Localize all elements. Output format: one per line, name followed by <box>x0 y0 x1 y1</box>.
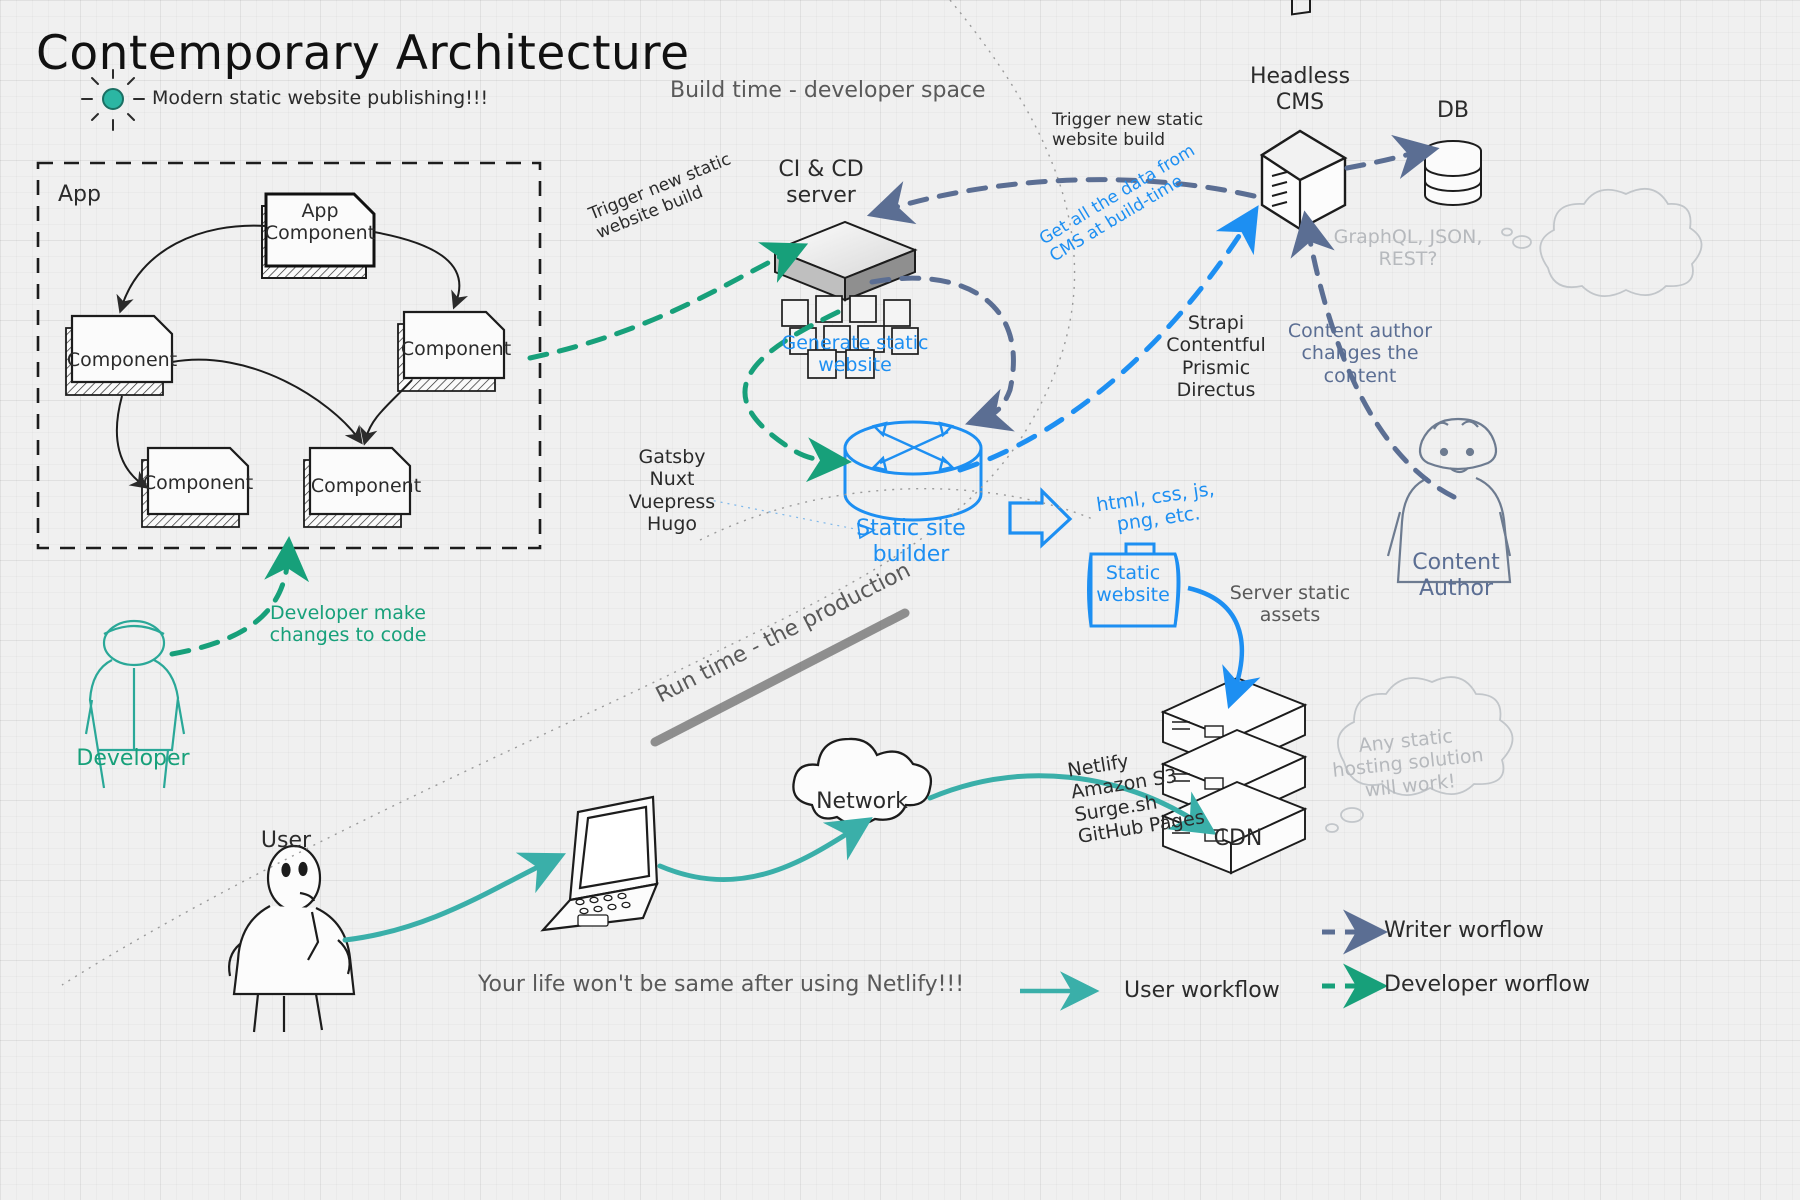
component-label-bottom-right: Component <box>311 475 421 497</box>
user-character-icon <box>229 846 354 1032</box>
user-label: User <box>261 828 311 854</box>
laptop-icon <box>543 797 657 930</box>
footer-note: Your life won't be same after using Netl… <box>478 972 964 998</box>
component-label-bottom-left: Component <box>143 472 253 494</box>
edge-label-generate-static-website: Generate static website <box>782 332 929 377</box>
static-site-builder-label: Static site builder <box>856 516 966 568</box>
legend-label-developer: Developer worflow <box>1384 972 1590 998</box>
build-output-arrow-icon <box>1010 491 1070 545</box>
page-subtitle: Modern static website publishing!!! <box>152 87 488 109</box>
static-generator-list: Gatsby Nuxt Vuepress Hugo <box>629 446 715 536</box>
generator-list-connector <box>700 498 860 530</box>
legend-label-writer: Writer worflow <box>1384 918 1544 944</box>
edge-label-server-static-assets: Server static assets <box>1230 582 1351 627</box>
section-label-build-time: Build time - developer space <box>670 78 986 104</box>
diagram-canvas: Contemporary Architecture Modern static … <box>0 0 1800 1200</box>
edge-label-content-author-changes: Content author changes the content <box>1288 320 1432 387</box>
headless-cms-label: Headless CMS <box>1250 64 1350 116</box>
api-formats-thought-bubble <box>1502 189 1702 296</box>
app-component-label: App Component <box>265 200 375 245</box>
component-label-right: Component <box>401 338 511 360</box>
api-formats-bubble-text: GraphQL, JSON, REST? <box>1334 226 1483 271</box>
developer-label: Developer <box>76 746 189 772</box>
network-label: Network <box>816 789 908 815</box>
static-website-label: Static website <box>1096 562 1170 607</box>
database-icon <box>1425 141 1481 205</box>
page-title: Contemporary Architecture <box>36 26 690 81</box>
database-label: DB <box>1437 98 1469 124</box>
component-label-left: Component <box>67 349 177 371</box>
edge-label-developer-changes-code: Developer make changes to code <box>270 602 427 647</box>
diagram-artwork <box>0 0 1800 1200</box>
app-box-title: App <box>58 182 101 208</box>
cicd-server-label: CI & CD server <box>778 157 863 209</box>
cdn-label: CDN <box>1214 826 1263 852</box>
developer-workflow-edges <box>172 252 838 654</box>
content-author-label: Content Author <box>1412 550 1500 602</box>
legend-label-user: User workflow <box>1124 978 1280 1004</box>
cms-platform-list: Strapi Contentful Prismic Directus <box>1166 312 1266 402</box>
